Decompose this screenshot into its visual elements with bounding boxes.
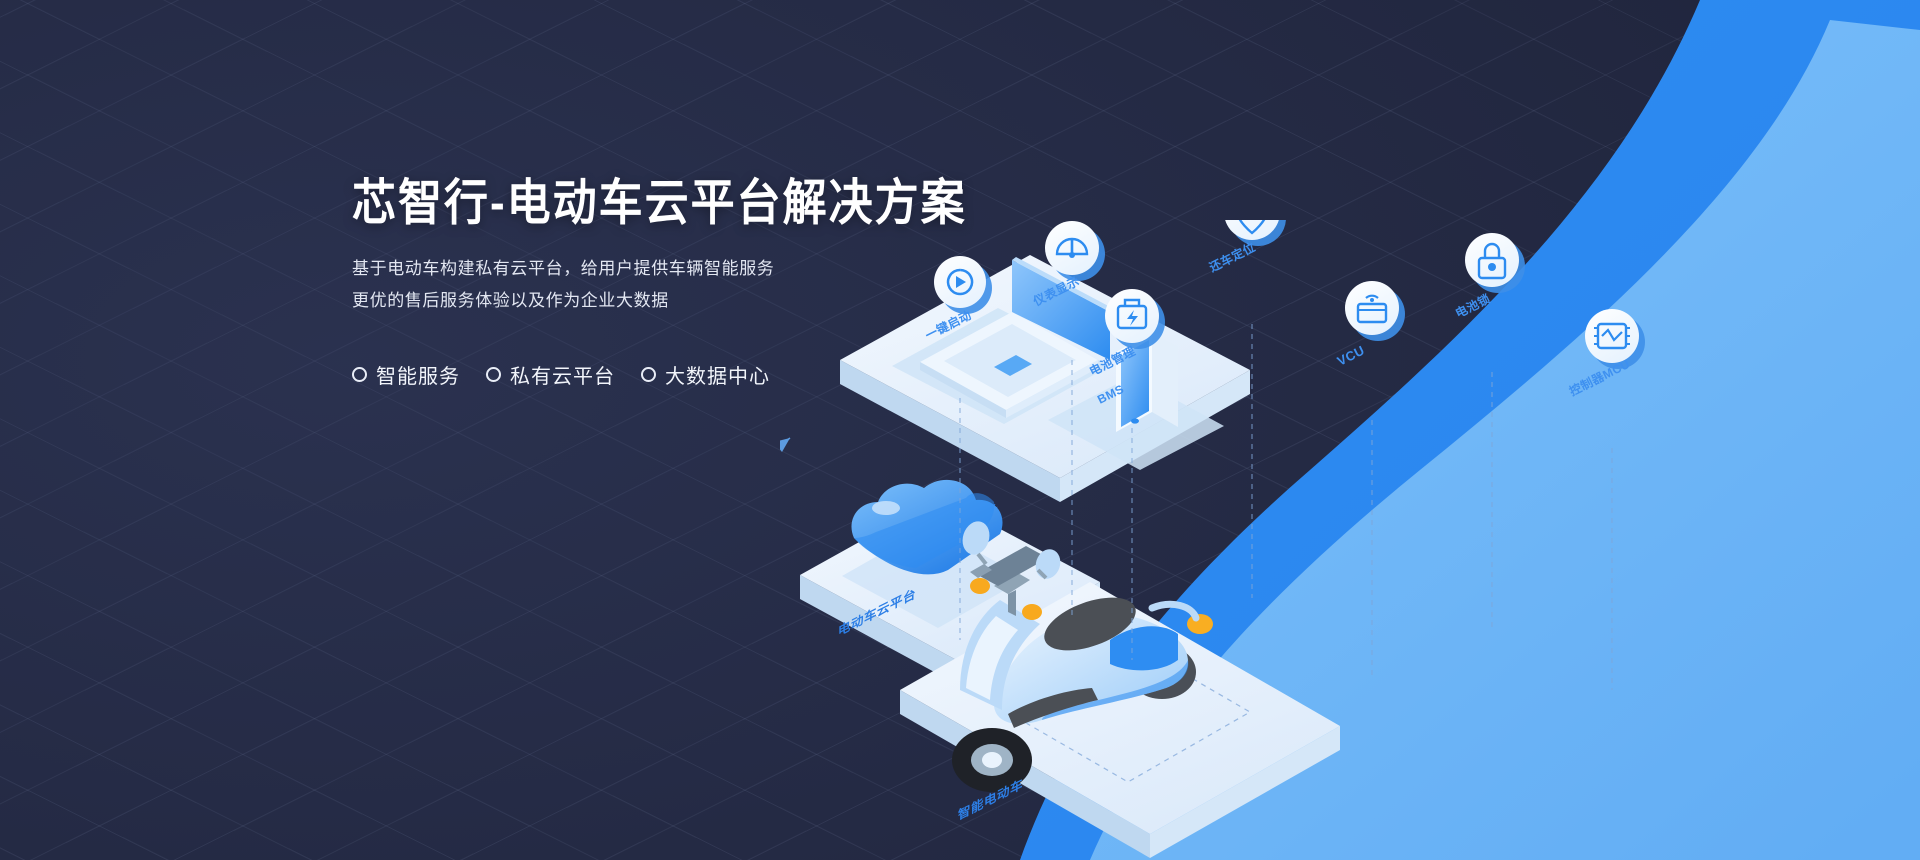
feature-label-battery-lock: 电池锁 [1453,291,1493,321]
circle-outline-icon [486,367,501,382]
feature-label-controller-mcu: 控制器MCU [1567,356,1633,399]
bullet-item-big-data: 大数据中心 [641,360,770,389]
bullet-label-1: 智能服务 [376,360,460,389]
feature-node-controller-mcu[interactable]: 控制器MCU [1567,309,1645,690]
isometric-illustration: 终端设备 电动车云平台 [780,220,1920,860]
bullet-label-3: 大数据中心 [665,360,770,389]
circle-outline-icon [352,367,367,382]
connector-cloud-to-terminal [780,438,790,560]
feature-node-battery-lock[interactable]: 电池锁 [1453,233,1525,630]
bullet-label-2: 私有云平台 [510,360,615,389]
feature-label-return-location: 还车定位 [1206,239,1258,275]
bullet-item-private-cloud: 私有云平台 [486,360,615,389]
feature-node-vcu[interactable]: VCU [1335,281,1405,680]
feature-label-vcu: VCU [1335,342,1367,368]
circle-outline-icon [641,367,656,382]
bullet-item-smart-service: 智能服务 [352,360,460,389]
banner-stage: 芯智行-电动车云平台解决方案 基于电动车构建私有云平台，给用户提供车辆智能服务 … [0,0,1920,860]
